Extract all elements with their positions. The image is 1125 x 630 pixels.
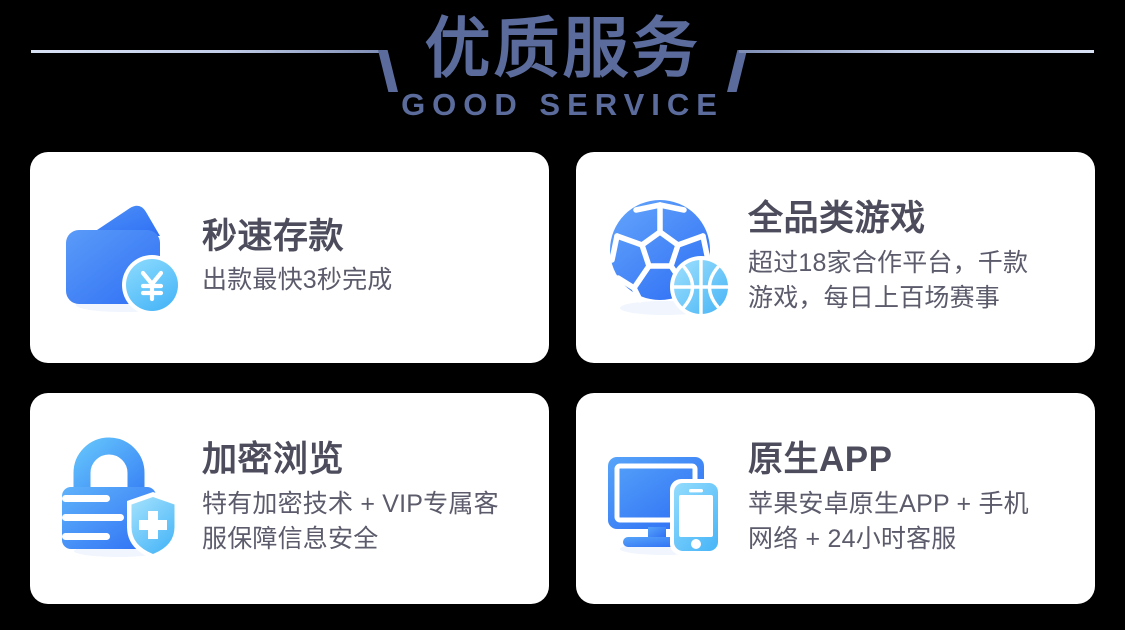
card-body: 全品类游戏 超过18家合作平台，千款 游戏，每日上百场赛事 [748,198,1077,316]
card-description-line: 出款最快3秒完成 [202,263,531,299]
page-subtitle: GOOD SERVICE [0,89,1125,120]
card-body: 加密浏览 特有加密技术 + VIP专属客 服保障信息安全 [202,439,531,557]
card-description-line: 网络 + 24小时客服 [748,522,1077,558]
feature-card-games[interactable]: 全品类游戏 超过18家合作平台，千款 游戏，每日上百场赛事 [576,152,1095,363]
card-title: 秒速存款 [202,216,531,257]
feature-card-deposit[interactable]: 秒速存款 出款最快3秒完成 [30,152,549,363]
card-description-line: 游戏，每日上百场赛事 [748,281,1077,317]
card-description: 出款最快3秒完成 [202,263,531,299]
card-description: 苹果安卓原生APP + 手机 网络 + 24小时客服 [748,487,1077,558]
card-description-line: 特有加密技术 + VIP专属客 [202,487,531,523]
card-title: 全品类游戏 [748,198,1077,239]
card-title: 加密浏览 [202,439,531,480]
card-body: 秒速存款 出款最快3秒完成 [202,216,531,299]
lock-shield-icon [52,429,192,569]
page-header: 优质服务 GOOD SERVICE [0,0,1125,152]
feature-card-encryption[interactable]: 加密浏览 特有加密技术 + VIP专属客 服保障信息安全 [30,393,549,604]
card-body: 原生APP 苹果安卓原生APP + 手机 网络 + 24小时客服 [748,439,1077,557]
feature-card-grid: 秒速存款 出款最快3秒完成 [30,152,1095,604]
page-title: 优质服务 [0,0,1125,87]
card-description: 特有加密技术 + VIP专属客 服保障信息安全 [202,487,531,558]
header-text-group: 优质服务 GOOD SERVICE [0,0,1125,120]
card-title: 原生APP [748,439,1077,480]
monitor-phone-icon [598,429,738,569]
soccer-basketball-icon [598,188,738,328]
card-description-line: 超过18家合作平台，千款 [748,246,1077,282]
card-description-line: 服保障信息安全 [202,522,531,558]
card-description: 超过18家合作平台，千款 游戏，每日上百场赛事 [748,246,1077,317]
wallet-yen-icon [52,188,192,328]
feature-card-native-app[interactable]: 原生APP 苹果安卓原生APP + 手机 网络 + 24小时客服 [576,393,1095,604]
card-description-line: 苹果安卓原生APP + 手机 [748,487,1077,523]
